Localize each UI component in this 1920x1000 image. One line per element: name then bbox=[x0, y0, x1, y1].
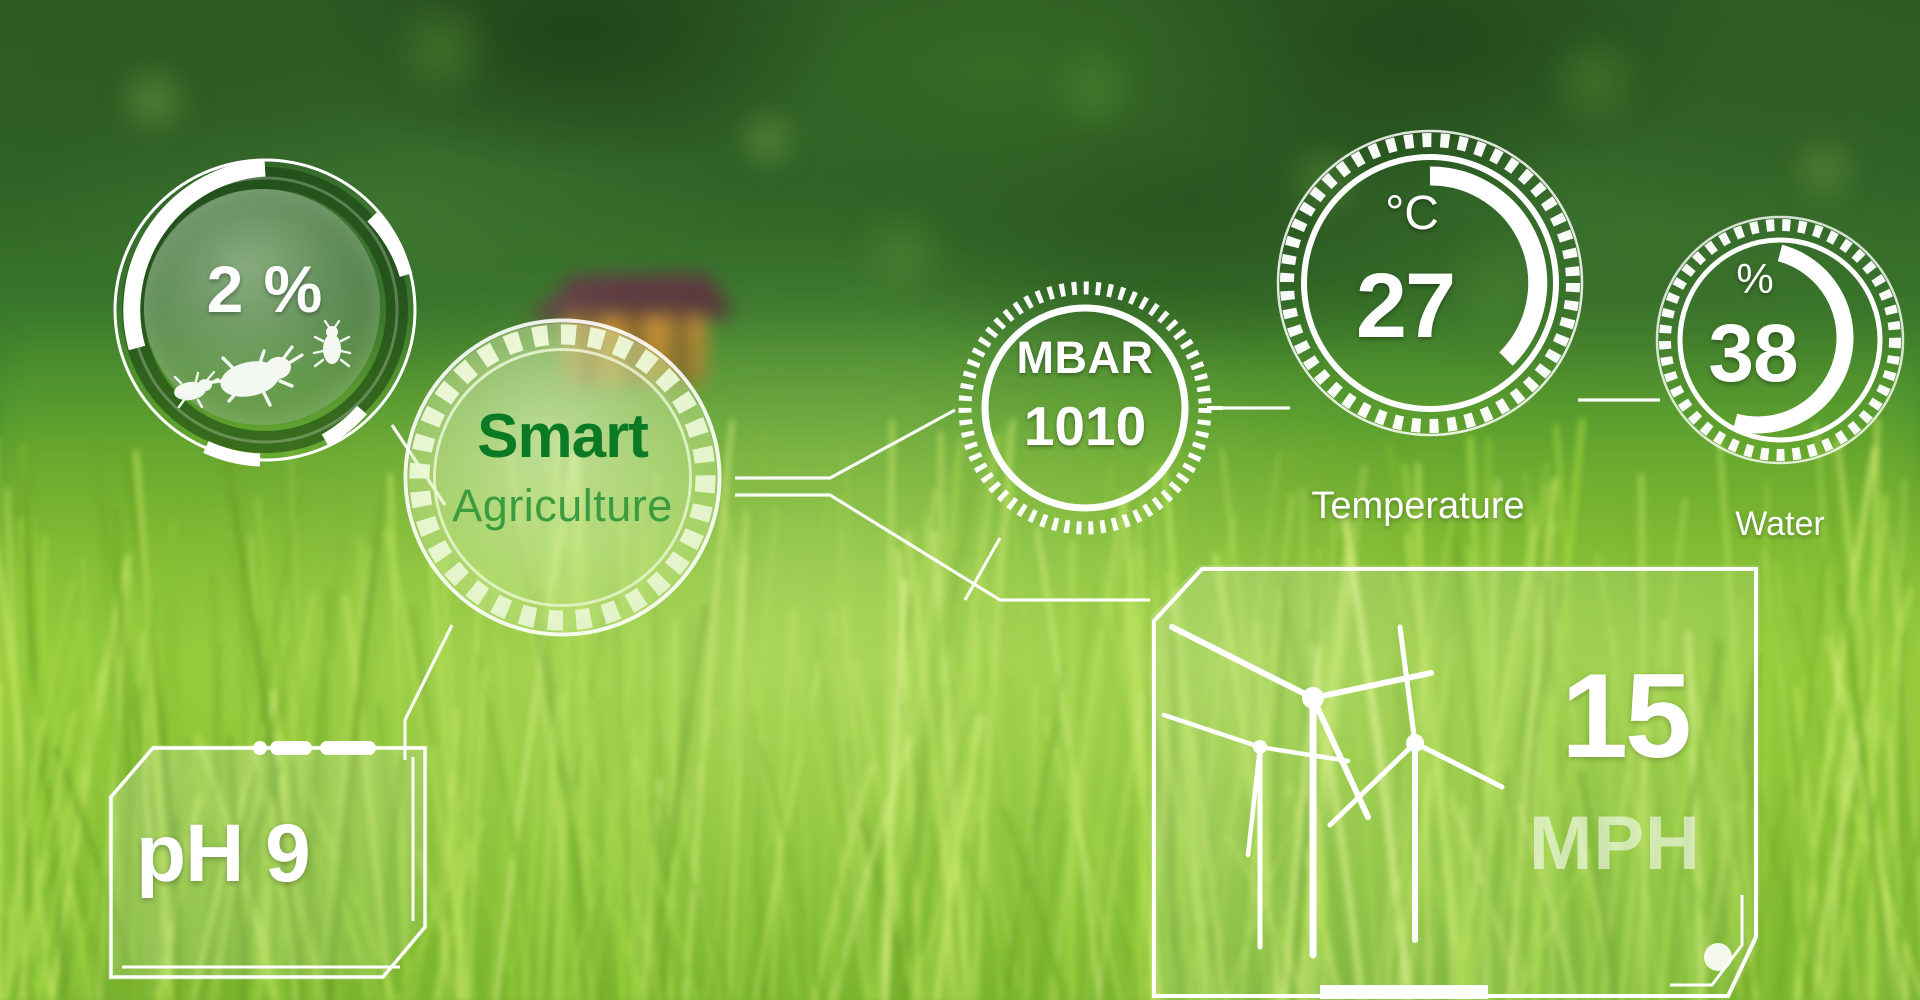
water-value: 38 bbox=[1673, 307, 1833, 401]
water-gauge[interactable]: % 38 bbox=[1655, 215, 1905, 465]
brand-title: Smart bbox=[390, 401, 735, 472]
screenshot-root: 2 % bbox=[0, 0, 1920, 1000]
wind-speed-unit: MPH bbox=[1480, 800, 1750, 887]
pressure-value: 1010 bbox=[955, 394, 1215, 458]
brand-subtitle: Agriculture bbox=[390, 480, 735, 532]
temperature-gauge[interactable]: °C 27 bbox=[1275, 128, 1585, 438]
pest-level-gauge[interactable]: 2 % bbox=[110, 155, 420, 465]
pest-gauge-value: 2 % bbox=[110, 251, 420, 327]
soil-ph-panel[interactable]: pH 9 bbox=[108, 745, 428, 980]
pressure-gauge[interactable]: MBAR 1010 bbox=[955, 278, 1215, 538]
ph-value: pH 9 bbox=[136, 807, 310, 901]
wind-speed-panel[interactable]: 15 MPH bbox=[1150, 565, 1760, 1000]
pressure-unit-label: MBAR bbox=[955, 332, 1215, 384]
temperature-caption: Temperature bbox=[1258, 485, 1578, 528]
wind-speed-value: 15 bbox=[1520, 647, 1730, 785]
temperature-unit-label: °C bbox=[1347, 186, 1477, 241]
water-caption: Water bbox=[1640, 505, 1920, 544]
smart-agriculture-badge[interactable]: Smart Agriculture bbox=[390, 305, 735, 650]
temperature-value: 27 bbox=[1325, 254, 1485, 359]
insects-icon bbox=[172, 323, 362, 413]
water-unit-label: % bbox=[1710, 255, 1800, 303]
brand-circle-face bbox=[408, 323, 717, 632]
